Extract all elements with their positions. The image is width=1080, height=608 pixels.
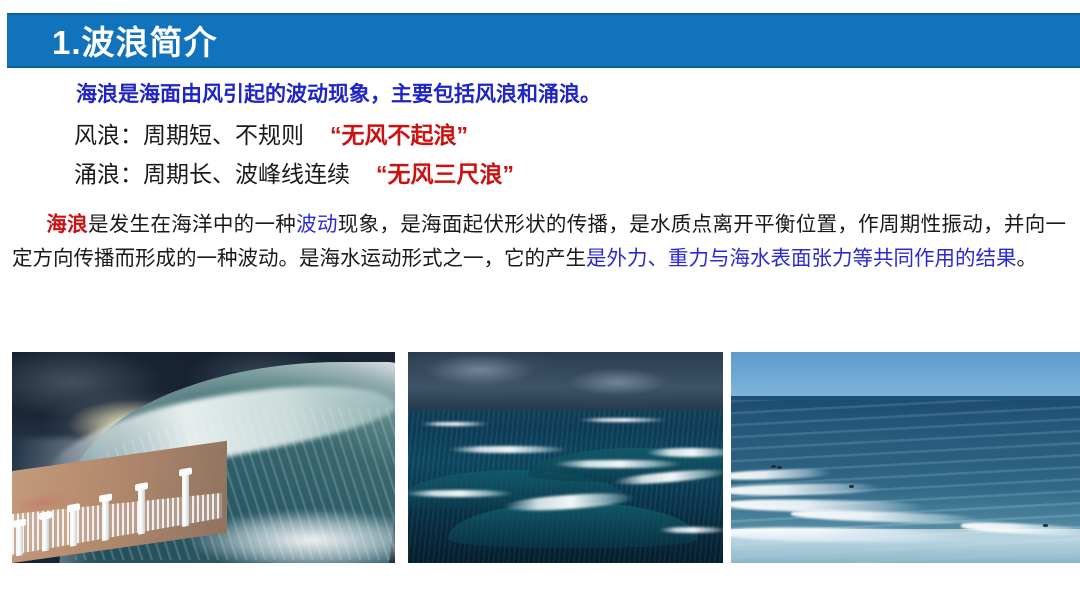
paragraph-highlight-bodong: 波动 <box>296 213 338 236</box>
shore-foam <box>731 529 1080 563</box>
definition-quote-wind-wave: “无风不起浪” <box>330 122 468 148</box>
header-banner: 1.波浪简介 <box>7 13 1080 68</box>
clear-sky-layer <box>731 352 1080 396</box>
paragraph-highlight-cause: 是外力、重力与海水表面张力等共同作用的结果 <box>586 247 1017 270</box>
whitecap <box>448 446 568 453</box>
surfer-dot <box>777 466 782 469</box>
surfer-dot <box>1043 524 1048 527</box>
definition-row-swell: 涌浪：周期长、波峰线连续“无风三尺浪” <box>0 155 1080 194</box>
slide-content: 海浪是海面由风引起的波动现象，主要包括风浪和涌浪。 风浪：周期短、不规则“无风不… <box>0 80 1080 276</box>
definition-term-wind-wave: 风浪：周期短、不规则 <box>74 122 304 148</box>
whitecap <box>408 490 514 497</box>
definition-quote-swell: “无风三尺浪” <box>376 161 514 187</box>
calm-swell-photo <box>731 352 1080 563</box>
stormy-sea-photo <box>408 352 723 563</box>
surfer-dot <box>849 485 854 488</box>
whitecap <box>420 422 490 426</box>
paragraph-text-part1: 是发生在海洋中的一种 <box>88 213 296 236</box>
whitecap <box>553 460 683 468</box>
surfer-dot <box>771 465 776 468</box>
whitecap <box>578 418 668 422</box>
storm-cloud-layer <box>408 352 723 412</box>
definition-term-swell: 涌浪：周期长、波峰线连续 <box>74 161 350 187</box>
body-paragraph: 海浪是发生在海洋中的一种波动现象，是海面起伏形状的传播，是水质点离开平衡位置，作… <box>0 208 1080 276</box>
whitecap <box>658 527 723 533</box>
giant-wave-seawall-photo <box>12 352 395 563</box>
lead-statement: 海浪是海面由风引起的波动现象，主要包括风浪和涌浪。 <box>0 80 1080 110</box>
photo-row <box>0 352 1080 563</box>
definition-row-wind-wave: 风浪：周期短、不规则“无风不起浪” <box>0 116 1080 155</box>
paragraph-text-end: 。 <box>1017 247 1038 270</box>
page-title: 1.波浪简介 <box>52 16 218 64</box>
paragraph-highlight-hailang: 海浪 <box>46 213 88 236</box>
